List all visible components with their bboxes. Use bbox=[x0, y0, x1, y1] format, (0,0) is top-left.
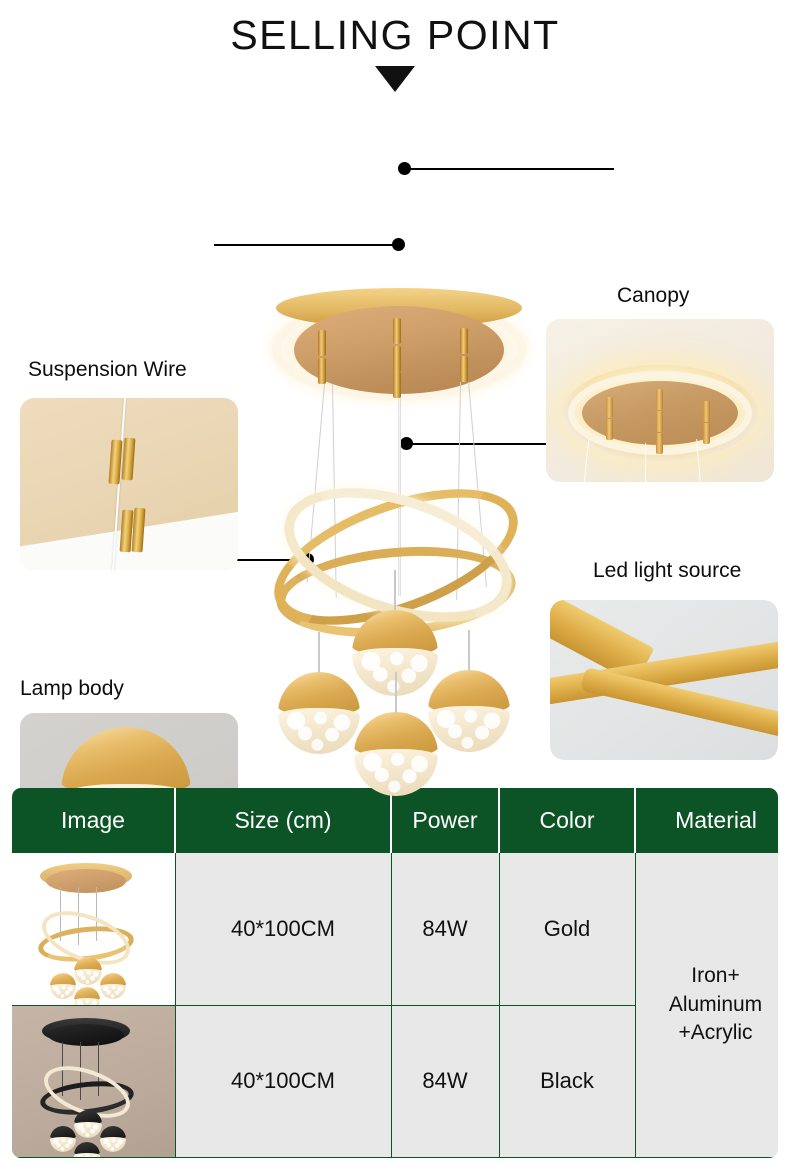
canopy-fitting bbox=[318, 358, 326, 384]
thumb-pendant-ball bbox=[74, 987, 100, 1005]
crystal-ball bbox=[354, 712, 438, 796]
led-light-source-detail-photo bbox=[550, 600, 778, 760]
triangle-down-icon bbox=[375, 66, 415, 92]
cell-power: 84W bbox=[391, 1005, 499, 1158]
suspension-wire-detail-photo bbox=[20, 398, 238, 570]
product-feature-diagram: Canopy Suspension Wire Led light source … bbox=[0, 130, 790, 780]
canopy-leader-line bbox=[404, 168, 614, 170]
canopy-inset-wire bbox=[645, 443, 646, 482]
spec-table-element: Image Size (cm) Power Color Material bbox=[12, 788, 778, 1158]
suspension-leader-line bbox=[214, 244, 398, 246]
crystal-ball bbox=[428, 670, 510, 752]
column-header-material: Material bbox=[635, 788, 778, 853]
ball-crystal-shade bbox=[74, 1122, 102, 1138]
material-line-2: Aluminum bbox=[669, 993, 762, 1016]
cell-image-gold bbox=[12, 853, 175, 1006]
black-chandelier-thumbnail bbox=[12, 1006, 175, 1158]
canopy-fitting bbox=[393, 318, 401, 344]
ball-crystal-shade bbox=[74, 969, 102, 985]
ball-crystal-shade bbox=[278, 708, 360, 754]
cell-power: 84W bbox=[391, 853, 499, 1006]
canopy-inset-fitting bbox=[656, 411, 663, 432]
table-header: Image Size (cm) Power Color Material bbox=[12, 788, 778, 853]
crystal-ball bbox=[278, 672, 360, 754]
title-block: SELLING POINT bbox=[0, 14, 790, 92]
canopy-inset-fitting bbox=[656, 433, 663, 454]
pendant-ball bbox=[354, 712, 438, 796]
material-line-3: +Acrylic bbox=[678, 1021, 752, 1044]
thumb-canopy-disc bbox=[48, 1024, 124, 1046]
canopy-inset-fitting bbox=[703, 423, 710, 444]
canopy-fitting bbox=[460, 328, 468, 354]
canopy-fitting bbox=[393, 372, 401, 398]
cell-material: Iron+ Aluminum +Acrylic bbox=[635, 853, 778, 1158]
pendant-stem bbox=[468, 630, 470, 670]
column-header-size: Size (cm) bbox=[175, 788, 391, 853]
canopy-inset-fitting bbox=[606, 419, 613, 440]
thumb-canopy-disc bbox=[46, 869, 126, 893]
table-body: 40*100CM 84W Gold Iron+ Aluminum +Acryli… bbox=[12, 853, 778, 1158]
canopy-fitting bbox=[318, 330, 326, 356]
canopy-fitting bbox=[393, 346, 401, 372]
canopy-inset-fitting bbox=[656, 389, 663, 410]
ball-crystal-shade bbox=[74, 998, 100, 1004]
main-product-image bbox=[232, 280, 562, 820]
suspension-inset-connector bbox=[122, 438, 136, 481]
ball-crystal-shade bbox=[354, 749, 438, 796]
cell-color: Gold bbox=[499, 853, 635, 1006]
callout-label-led: Led light source bbox=[593, 559, 741, 583]
page-title: SELLING POINT bbox=[0, 14, 790, 57]
pendant-ball bbox=[428, 670, 510, 752]
gold-chandelier-thumbnail bbox=[12, 853, 175, 1005]
cell-size: 40*100CM bbox=[175, 853, 391, 1006]
pendant-stem bbox=[395, 672, 397, 712]
material-line-1: Iron+ bbox=[691, 964, 739, 987]
thumb-pendant-ball bbox=[74, 957, 102, 985]
thumb-pendant-ball bbox=[74, 1142, 100, 1158]
pendant-stem bbox=[318, 632, 320, 672]
callout-label-suspension: Suspension Wire bbox=[28, 358, 187, 382]
thumb-pendant-ball bbox=[74, 1110, 102, 1138]
ball-crystal-shade bbox=[74, 1153, 100, 1157]
ball-crystal-shade bbox=[100, 1137, 126, 1152]
pendant-ball bbox=[278, 672, 360, 754]
table-header-row: Image Size (cm) Power Color Material bbox=[12, 788, 778, 853]
column-header-power: Power bbox=[391, 788, 499, 853]
canopy-fitting bbox=[460, 356, 468, 382]
table-row: 40*100CM 84W Gold Iron+ Aluminum +Acryli… bbox=[12, 853, 778, 1006]
column-header-color: Color bbox=[499, 788, 635, 853]
pendant-stem bbox=[394, 570, 396, 610]
ball-crystal-shade bbox=[428, 706, 510, 752]
cell-size: 40*100CM bbox=[175, 1005, 391, 1158]
ball-crystal-shade bbox=[100, 984, 126, 999]
column-header-image: Image bbox=[12, 788, 175, 853]
canopy-inset-fitting bbox=[606, 397, 613, 418]
cell-image-black bbox=[12, 1005, 175, 1158]
thumb-pendant-ball bbox=[100, 973, 126, 999]
cell-color: Black bbox=[499, 1005, 635, 1158]
canopy-detail-photo bbox=[546, 319, 774, 482]
specification-table: Image Size (cm) Power Color Material bbox=[12, 788, 778, 1158]
ball-crystal-shade bbox=[50, 1137, 76, 1152]
callout-label-canopy: Canopy bbox=[617, 284, 689, 308]
ball-crystal-shade bbox=[50, 984, 76, 999]
thumb-pendant-ball bbox=[50, 1126, 76, 1152]
thumb-pendant-ball bbox=[100, 1126, 126, 1152]
canopy-inset-wire bbox=[584, 439, 590, 482]
callout-label-lampbody: Lamp body bbox=[20, 677, 124, 701]
thumb-pendant-ball bbox=[50, 973, 76, 999]
canopy-inset-fitting bbox=[703, 401, 710, 422]
